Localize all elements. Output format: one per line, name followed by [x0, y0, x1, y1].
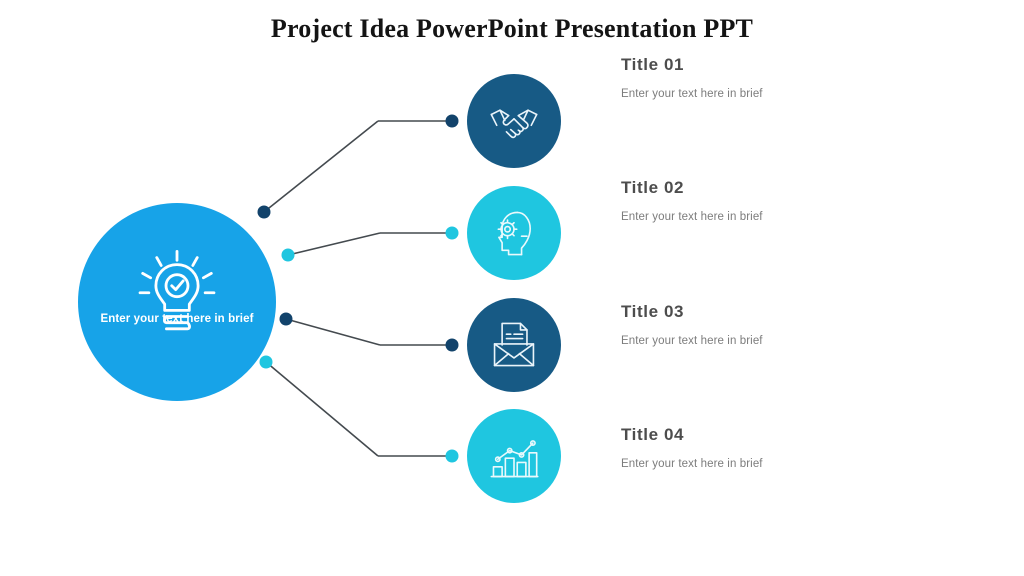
central-hub-label: Enter your text here in brief: [78, 313, 276, 325]
connector-line-2-diagonal: [288, 233, 380, 255]
item-text-block-3: Title 03 Enter your text here in brief: [621, 302, 961, 347]
connector-dot-3-right: [446, 339, 459, 352]
connector-line-1-diagonal: [264, 121, 378, 212]
item-desc-3: Enter your text here in brief: [621, 335, 961, 347]
item-text-block-2: Title 02 Enter your text here in brief: [621, 178, 961, 223]
page-title: Project Idea PowerPoint Presentation PPT: [0, 14, 1024, 44]
item-title-1: Title 01: [621, 55, 961, 75]
item-icon-circle-1[interactable]: [467, 74, 561, 168]
connector-dot-1-right: [446, 115, 459, 128]
item-icon-circle-3[interactable]: [467, 298, 561, 392]
item-title-3: Title 03: [621, 302, 961, 322]
item-text-block-4: Title 04 Enter your text here in brief: [621, 425, 961, 470]
connector-dot-4-left: [260, 356, 273, 369]
item-desc-2: Enter your text here in brief: [621, 211, 961, 223]
connector-dot-2-right: [446, 227, 459, 240]
item-desc-4: Enter your text here in brief: [621, 458, 961, 470]
item-icon-circle-4[interactable]: [467, 409, 561, 503]
item-desc-1: Enter your text here in brief: [621, 88, 961, 100]
central-hub-circle[interactable]: Enter your text here in brief: [78, 203, 276, 401]
bar-chart-trend-icon: [487, 429, 541, 483]
connector-dot-2-left: [282, 249, 295, 262]
envelope-document-icon: [487, 318, 541, 372]
connector-line-4-diagonal: [266, 362, 378, 456]
connector-line-3-diagonal: [286, 319, 380, 345]
head-gear-icon: [487, 206, 541, 260]
item-title-4: Title 04: [621, 425, 961, 445]
item-text-block-1: Title 01 Enter your text here in brief: [621, 55, 961, 100]
connector-dot-1-left: [258, 206, 271, 219]
handshake-icon: [487, 94, 541, 148]
item-icon-circle-2[interactable]: [467, 186, 561, 280]
item-title-2: Title 02: [621, 178, 961, 198]
slide-canvas: Project Idea PowerPoint Presentation PPT: [0, 0, 1024, 576]
connector-dot-3-left: [280, 313, 293, 326]
connector-dot-4-right: [446, 450, 459, 463]
